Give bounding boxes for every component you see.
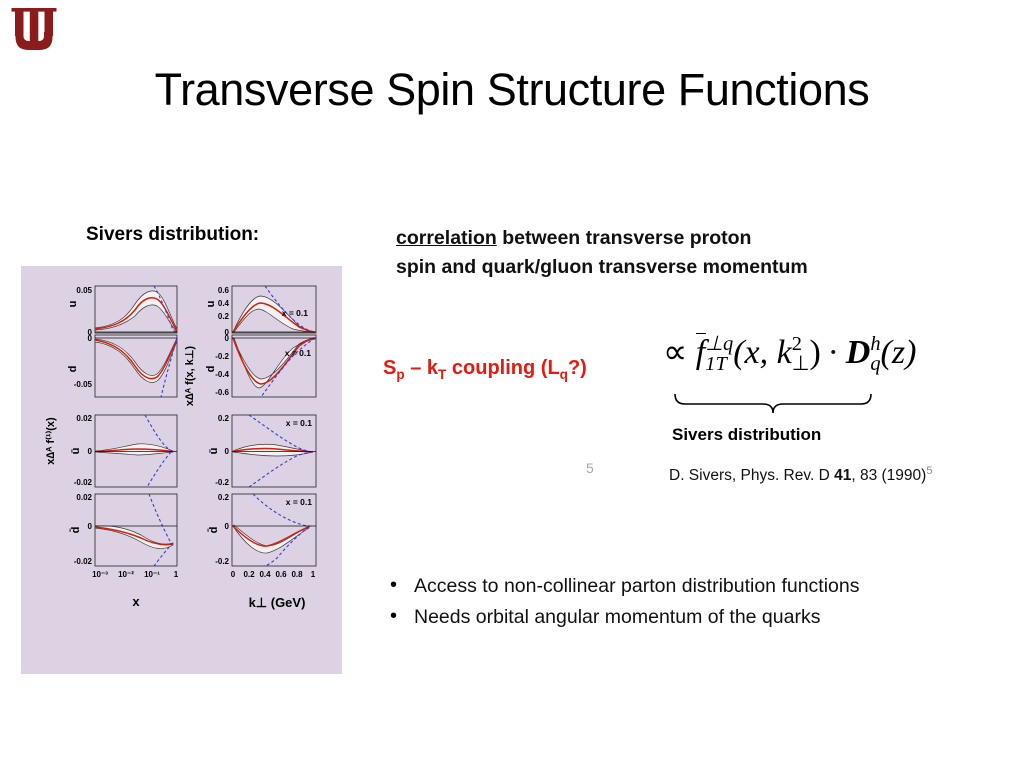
svg-text:d̄: d̄: [208, 527, 220, 534]
svg-text:10⁻²: 10⁻²: [118, 570, 134, 579]
svg-text:1: 1: [174, 570, 179, 579]
svg-text:0.02: 0.02: [76, 414, 92, 423]
svg-text:10⁻³: 10⁻³: [92, 570, 108, 579]
svg-text:-0.2: -0.2: [215, 557, 229, 566]
svg-text:d̄: d̄: [70, 527, 82, 534]
svg-text:0: 0: [231, 570, 236, 579]
citation-volume: 41: [834, 467, 851, 484]
formula-f-indices: ⊥q1T: [705, 334, 733, 375]
sivers-plot-svg: 0.05 0 0 -0.05 0.02 0 -0.02 0.02 0 -0.02…: [21, 266, 342, 674]
citation-superscript: 5: [926, 465, 932, 477]
svg-text:0: 0: [225, 447, 230, 456]
left-xlabel: x: [132, 594, 140, 609]
correlation-rest: between transverse proton: [497, 227, 752, 249]
coupling-s-sub: p: [396, 367, 404, 382]
formula-f-sub: 1T: [705, 354, 733, 374]
bullet-text: Access to non-collinear parton distribut…: [414, 572, 860, 600]
coupling-word: coupling (: [446, 357, 547, 379]
coupling-dash: –: [405, 357, 427, 379]
sivers-distribution-figure: 0.05 0 0 -0.05 0.02 0 -0.02 0.02 0 -0.02…: [21, 266, 342, 674]
svg-text:-0.4: -0.4: [215, 370, 229, 379]
coupling-l: L: [547, 357, 559, 379]
svg-text:d: d: [67, 366, 79, 373]
bullet-text: Needs orbital angular momentum of the qu…: [414, 603, 820, 631]
sivers-distribution-caption: Sivers distribution: [672, 425, 821, 445]
svg-text:-0.2: -0.2: [215, 478, 229, 487]
svg-text:ū: ū: [70, 448, 82, 455]
proportional-symbol: ∝: [663, 334, 687, 371]
svg-text:0.2: 0.2: [218, 493, 230, 502]
annotation-x01: x = 0.1: [286, 418, 313, 428]
right-ylabel: x∆ᴬ f(x, k⊥): [184, 346, 196, 407]
sp-kt-coupling-label: Sp – kT coupling (Lq?): [383, 357, 587, 382]
svg-text:0.6: 0.6: [275, 570, 287, 579]
svg-text:0.8: 0.8: [291, 570, 303, 579]
underbrace: [673, 392, 873, 414]
list-item: • Needs orbital angular momentum of the …: [390, 603, 1010, 631]
annotation-x01: x = 0.1: [286, 497, 313, 507]
svg-text:0: 0: [88, 522, 93, 531]
svg-text:ū: ū: [208, 448, 220, 455]
annotation-x01: x = 0.1: [282, 308, 309, 318]
svg-text:-0.2: -0.2: [215, 352, 229, 361]
formula-k-indices: 2⊥: [792, 334, 810, 375]
bullet-icon: •: [390, 603, 414, 629]
slide-number: 5: [586, 460, 594, 476]
svg-text:-0.02: -0.02: [74, 478, 93, 487]
svg-text:0: 0: [88, 447, 93, 456]
annotation-x01: x = 0.1: [285, 348, 312, 358]
list-item: • Access to non-collinear parton distrib…: [390, 572, 1010, 600]
svg-text:0: 0: [225, 522, 230, 531]
svg-text:1: 1: [311, 570, 316, 579]
svg-text:0: 0: [88, 334, 93, 343]
formula-args: (x, k: [733, 334, 792, 371]
svg-text:-0.6: -0.6: [215, 388, 229, 397]
svg-text:10⁻¹: 10⁻¹: [144, 570, 160, 579]
svg-text:0.05: 0.05: [76, 286, 92, 295]
formula-dot: ·: [828, 334, 839, 371]
svg-text:u: u: [205, 301, 217, 308]
svg-text:0.4: 0.4: [259, 570, 271, 579]
formula-f-sup: ⊥q: [705, 334, 733, 354]
correlation-description: correlation between transverse proton sp…: [396, 224, 966, 282]
formula-close-paren: ): [810, 334, 821, 371]
svg-text:0.4: 0.4: [218, 299, 230, 308]
formula-D-indices: hq: [870, 334, 880, 375]
coupling-k: k: [427, 357, 438, 379]
svg-text:-0.05: -0.05: [74, 380, 93, 389]
sivers-formula: ∝ f⊥q1T(x, k2⊥) · Dhq(z): [663, 332, 916, 375]
coupling-tail: ?): [568, 357, 587, 379]
svg-text:0.2: 0.2: [218, 312, 230, 321]
coupling-l-sub: q: [560, 367, 568, 382]
formula-k-sub: ⊥: [792, 354, 810, 374]
svg-text:0.02: 0.02: [76, 493, 92, 502]
correlation-underlined-word: correlation: [396, 227, 497, 249]
formula-D-sup: h: [870, 334, 880, 354]
citation: D. Sivers, Phys. Rev. D 41, 83 (1990)5: [669, 465, 933, 485]
svg-text:0.2: 0.2: [218, 414, 230, 423]
left-ylabel: x∆ᴬ f⁽¹⁾(x): [45, 417, 57, 465]
formula-D: D: [846, 334, 871, 371]
svg-text:0.6: 0.6: [218, 286, 230, 295]
formula-z: (z): [881, 334, 917, 371]
svg-text:0: 0: [225, 334, 230, 343]
formula-f: f: [696, 334, 705, 372]
formula-D-sub: q: [870, 354, 880, 374]
bullet-icon: •: [390, 572, 414, 598]
sivers-distribution-heading: Sivers distribution:: [86, 224, 259, 246]
correlation-line2: spin and quark/gluon transverse momentum: [396, 256, 808, 278]
slide-title: Transverse Spin Structure Functions: [0, 62, 1024, 118]
svg-text:d: d: [205, 366, 217, 373]
svg-text:-0.02: -0.02: [74, 557, 93, 566]
coupling-s: S: [383, 357, 396, 379]
bullet-list: • Access to non-collinear parton distrib…: [390, 572, 1010, 634]
right-xlabel: k⊥ (GeV): [249, 595, 306, 610]
indiana-university-logo: [10, 6, 58, 50]
svg-text:0.2: 0.2: [243, 570, 255, 579]
formula-k-sup: 2: [792, 334, 810, 354]
citation-post: , 83 (1990): [851, 467, 926, 484]
citation-pre: D. Sivers, Phys. Rev. D: [669, 467, 834, 484]
svg-text:u: u: [67, 301, 79, 308]
